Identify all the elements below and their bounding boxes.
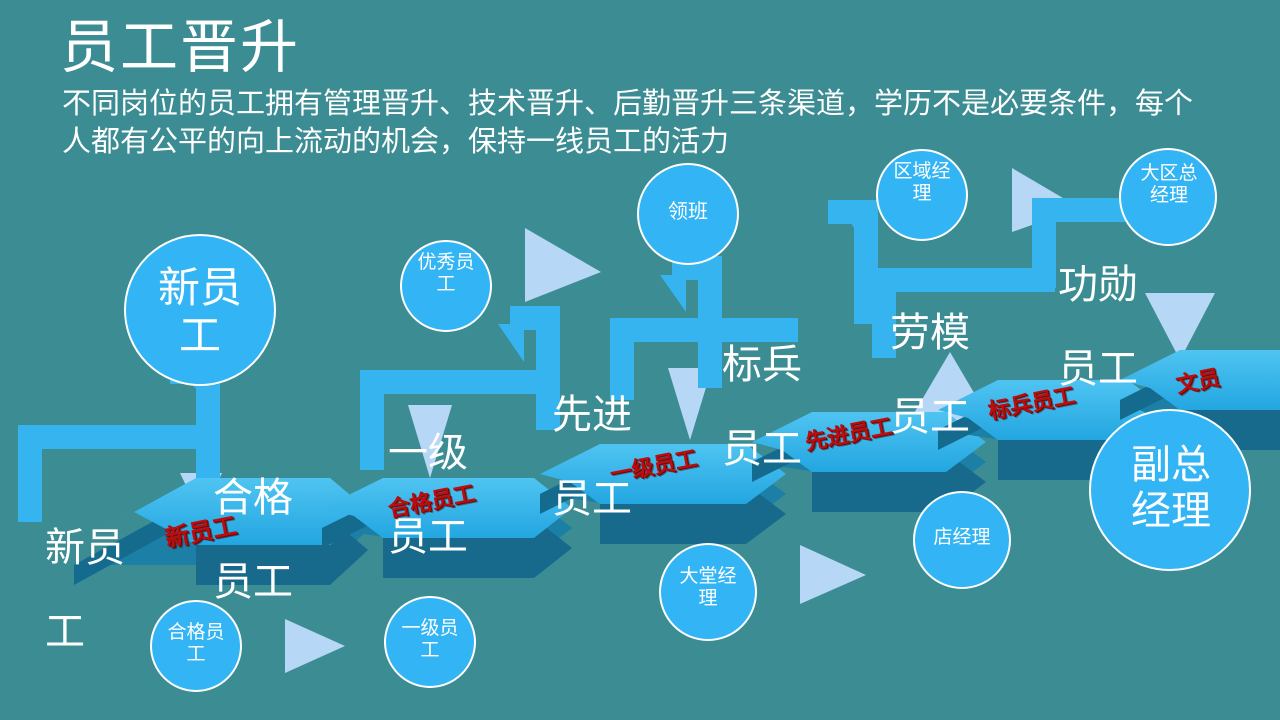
bracket-arrowhead-3 — [660, 275, 686, 312]
pale-arrow-down-4 — [1145, 293, 1215, 360]
circle-node-dian-jingli[interactable] — [914, 492, 1010, 588]
circle-node-lingban[interactable] — [638, 164, 738, 264]
pale-arrow-right-3 — [285, 619, 345, 673]
pale-arrow-down-2 — [408, 405, 452, 478]
chevron-block-3 — [540, 444, 786, 544]
circle-node-quyu-jingli[interactable] — [877, 150, 967, 240]
pale-arrow-right-4 — [800, 545, 866, 604]
bracket-connector-7 — [872, 268, 1055, 358]
circle-node-datang-jingli[interactable] — [660, 544, 756, 640]
circle-node-youxiu-yuangong[interactable] — [401, 241, 491, 331]
slide-canvas: 员工晋升 不同岗位的员工拥有管理晋升、技术晋升、后勤晋升三条渠道，学历不是必要条… — [0, 0, 1280, 720]
bracket-connector-8 — [828, 200, 878, 324]
bracket-connector-4 — [510, 306, 560, 430]
pale-arrow-right-1 — [525, 228, 601, 302]
chevron-block-2 — [322, 478, 572, 578]
promotion-path-diagram — [0, 0, 1280, 720]
circle-node-yiji-yuangong[interactable] — [385, 597, 475, 687]
circle-node-hege-yuangong[interactable] — [151, 601, 241, 691]
circle-node-fuzong-jingli[interactable] — [1090, 410, 1250, 570]
circle-node-xin-yuan-gong-big[interactable] — [125, 235, 275, 385]
bracket-connector-3 — [360, 370, 545, 470]
circle-node-daqu-zongjingli[interactable] — [1120, 149, 1216, 245]
